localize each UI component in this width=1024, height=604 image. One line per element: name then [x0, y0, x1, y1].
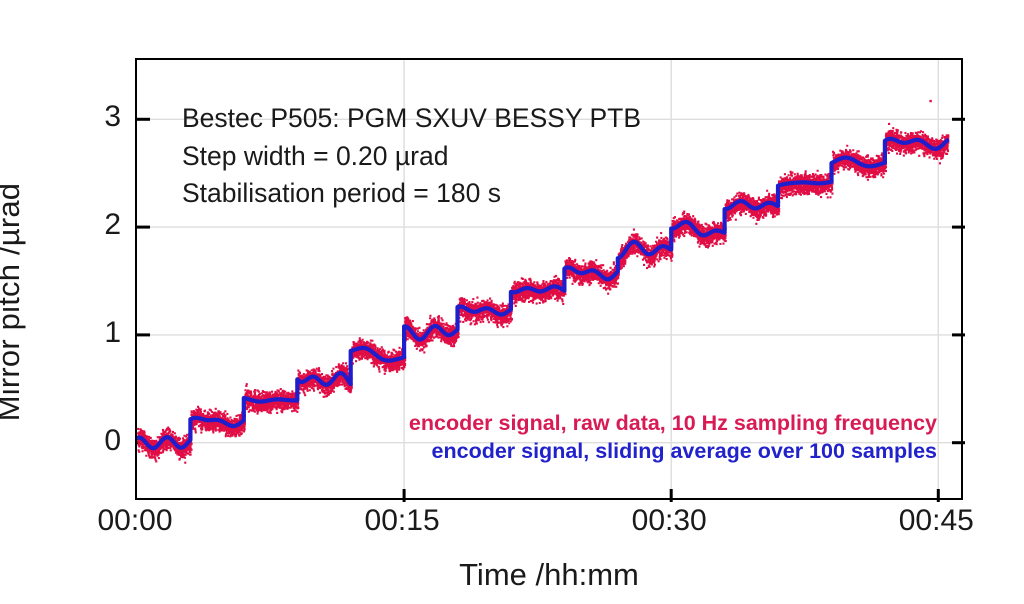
y-tick-label: 3 — [81, 100, 121, 134]
annotation-line-2: Step width = 0.20 µrad — [182, 138, 641, 176]
legend-item-raw: encoder signal, raw data, 10 Hz sampling… — [409, 410, 937, 438]
legend-item-average: encoder signal, sliding average over 100… — [409, 438, 937, 466]
x-tick-label: 00:45 — [899, 504, 974, 538]
y-tick-label: 1 — [81, 316, 121, 350]
annotation-block: Bestec P505: PGM SXUV BESSY PTB Step wid… — [182, 100, 641, 213]
x-tick-label: 00:30 — [632, 504, 707, 538]
y-tick-label: 0 — [81, 424, 121, 458]
annotation-line-1: Bestec P505: PGM SXUV BESSY PTB — [182, 100, 641, 138]
y-axis-title: Mirror pitch /µrad — [0, 0, 58, 604]
x-tick-label: 00:00 — [97, 504, 172, 538]
annotation-line-3: Stabilisation period = 180 s — [182, 175, 641, 213]
x-tick-label: 00:15 — [365, 504, 440, 538]
legend: encoder signal, raw data, 10 Hz sampling… — [409, 410, 937, 466]
plot-area: Bestec P505: PGM SXUV BESSY PTB Step wid… — [135, 58, 963, 500]
y-tick-label: 2 — [81, 208, 121, 242]
x-axis-title: Time /hh:mm — [135, 557, 963, 593]
chart-figure: Mirror pitch /µrad 0123 Bestec P505: PGM… — [0, 0, 1024, 604]
